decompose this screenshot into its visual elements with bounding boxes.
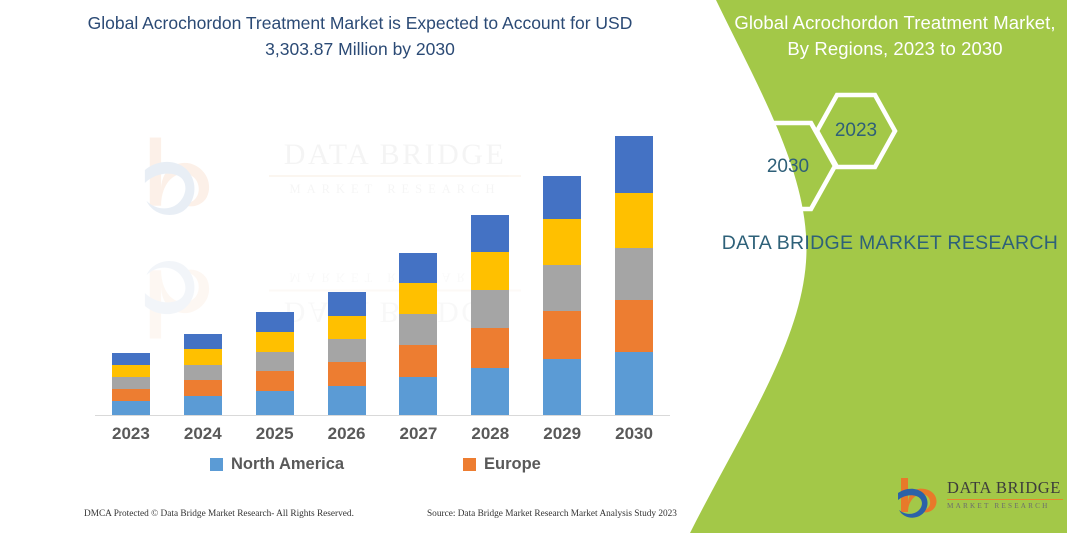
bar-segment-middle-east-and-africa — [615, 193, 653, 248]
chart-plot-area: DATA BRIDGE MARKET RESEARCH DATA BRIDGE … — [95, 120, 670, 416]
bar-segment-asia-pacific — [112, 377, 150, 389]
legend-item-europe[interactable]: Europe — [463, 455, 541, 474]
x-axis-label-2023: 2023 — [95, 424, 167, 444]
x-axis-label-2026: 2026 — [311, 424, 383, 444]
bar-segment-europe — [615, 300, 653, 352]
bar-segment-middle-east-and-africa — [256, 332, 294, 352]
bar-segment-europe — [256, 371, 294, 391]
data-bridge-wordmark: DATA BRIDGE MARKET RESEARCH — [947, 478, 1067, 510]
legend-swatch-icon — [210, 458, 223, 471]
bar-segment-south-america — [543, 176, 581, 219]
bar-segment-north-america — [471, 368, 509, 415]
legend-item-north-america[interactable]: North America — [210, 455, 344, 474]
logo-tagline: MARKET RESEARCH — [947, 502, 1067, 510]
green-panel-content: Global Acrochordon Treatment Market, By … — [700, 0, 1067, 533]
bar-2024 — [184, 334, 222, 415]
x-axis-label-2029: 2029 — [526, 424, 598, 444]
footer: DMCA Protected © Data Bridge Market Rese… — [0, 505, 700, 529]
bar-segment-north-america — [399, 377, 437, 415]
x-axis-label-2025: 2025 — [239, 424, 311, 444]
x-axis-label-2024: 2024 — [167, 424, 239, 444]
bar-2025 — [256, 312, 294, 415]
x-axis-line — [95, 415, 670, 416]
bar-segment-south-america — [615, 136, 653, 193]
bar-segment-europe — [328, 362, 366, 386]
bar-segment-middle-east-and-africa — [399, 283, 437, 314]
panel-title: Global Acrochordon Treatment Market, By … — [730, 10, 1060, 62]
bar-2027 — [399, 253, 437, 415]
bar-segment-middle-east-and-africa — [328, 316, 366, 339]
bar-segment-europe — [471, 328, 509, 368]
bar-segment-north-america — [543, 359, 581, 415]
watermark-logo-reflection-icon — [140, 238, 218, 348]
x-axis-label-2028: 2028 — [454, 424, 526, 444]
chart-legend: North AmericaEurope — [95, 455, 670, 481]
bar-segment-middle-east-and-africa — [112, 365, 150, 377]
bar-segment-asia-pacific — [399, 314, 437, 345]
bar-segment-north-america — [184, 396, 222, 415]
bar-segment-north-america — [328, 386, 366, 415]
hexagon-group: 2030 2023 — [720, 92, 1060, 212]
bar-segment-europe — [184, 380, 222, 396]
watermark-line2: MARKET RESEARCH — [245, 182, 545, 197]
bar-2028 — [471, 215, 509, 415]
bar-2023 — [112, 353, 150, 415]
bar-segment-north-america — [112, 401, 150, 415]
bar-segment-south-america — [184, 334, 222, 349]
x-axis-label-2030: 2030 — [598, 424, 670, 444]
bar-segment-europe — [399, 345, 437, 377]
bar-2029 — [543, 176, 581, 415]
x-axis-labels: 20232024202520262027202820292030 — [95, 424, 670, 448]
bar-segment-north-america — [615, 352, 653, 415]
bar-segment-north-america — [256, 391, 294, 415]
bar-2030 — [615, 136, 653, 415]
bar-segment-middle-east-and-africa — [184, 349, 222, 365]
chart-title: Global Acrochordon Treatment Market is E… — [70, 10, 650, 62]
panel-brand-line: DATA BRIDGE MARKET RESEARCH — [720, 228, 1060, 258]
logo-rule — [947, 499, 1063, 500]
data-bridge-mark — [895, 474, 943, 522]
bar-segment-south-america — [256, 312, 294, 332]
hexagon-2023-label: 2023 — [814, 120, 898, 142]
bar-segment-south-america — [471, 215, 509, 252]
bar-segment-middle-east-and-africa — [543, 219, 581, 265]
watermark-rule — [269, 175, 521, 177]
bar-segment-asia-pacific — [615, 248, 653, 300]
bar-segment-asia-pacific — [328, 339, 366, 362]
legend-label: North America — [231, 455, 344, 474]
chart-watermark: DATA BRIDGE MARKET RESEARCH DATA BRIDGE … — [95, 120, 670, 416]
bar-segment-asia-pacific — [184, 365, 222, 380]
bar-segment-middle-east-and-africa — [471, 252, 509, 290]
watermark-logo-icon — [140, 128, 218, 238]
logo-name: DATA BRIDGE — [947, 478, 1067, 498]
bar-segment-asia-pacific — [256, 352, 294, 371]
bar-segment-south-america — [112, 353, 150, 365]
watermark-line1: DATA BRIDGE — [245, 138, 545, 172]
legend-label: Europe — [484, 455, 541, 474]
bar-segment-south-america — [399, 253, 437, 283]
data-bridge-logo: DATA BRIDGE MARKET RESEARCH — [895, 472, 1067, 527]
bar-segment-asia-pacific — [543, 265, 581, 311]
bar-segment-south-america — [328, 292, 366, 316]
hexagon-2023: 2023 — [814, 92, 898, 170]
bar-segment-europe — [543, 311, 581, 359]
legend-swatch-icon — [463, 458, 476, 471]
bar-2026 — [328, 292, 366, 415]
footer-copyright: DMCA Protected © Data Bridge Market Rese… — [84, 509, 354, 519]
x-axis-label-2027: 2027 — [382, 424, 454, 444]
bar-segment-asia-pacific — [471, 290, 509, 328]
bar-segment-europe — [112, 389, 150, 401]
watermark-text: DATA BRIDGE MARKET RESEARCH — [245, 138, 545, 197]
footer-source: Source: Data Bridge Market Research Mark… — [427, 509, 677, 519]
